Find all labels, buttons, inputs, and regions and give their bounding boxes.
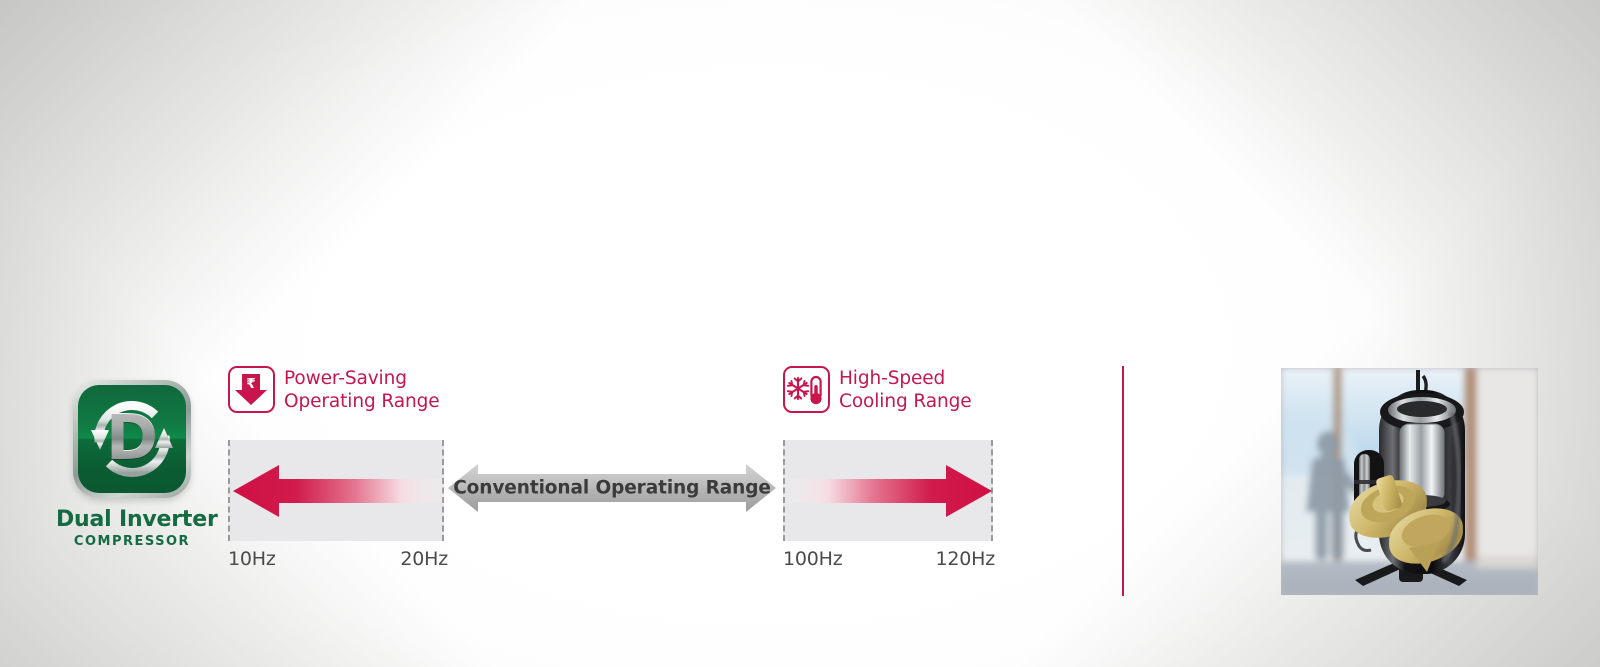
badge-title: Dual Inverter — [56, 508, 208, 532]
tick-20hz: 20Hz — [400, 548, 448, 570]
dual-inverter-badge: D Dual Inverter COMPRESSOR — [56, 380, 208, 549]
high-speed-cooling-label: High-Speed Cooling Range — [839, 366, 972, 414]
badge-subtitle: COMPRESSOR — [56, 534, 208, 549]
dual-inverter-compressor-photo — [1281, 368, 1538, 595]
power-saving-label: Power-Saving Operating Range — [284, 366, 440, 414]
tick-120hz: 120Hz — [935, 548, 995, 570]
high-speed-cooling-label-line1: High-Speed — [839, 367, 972, 390]
power-saving-header: ₹ Power-Saving Operating Range — [228, 366, 444, 422]
tick-100hz: 100Hz — [783, 548, 843, 570]
snowflake-thermometer-icon — [783, 366, 830, 413]
rupee-down-arrow-icon: ₹ — [228, 366, 275, 413]
left-arrow-icon — [233, 464, 443, 518]
svg-text:₹: ₹ — [246, 376, 255, 392]
high-speed-cooling-range-block: High-Speed Cooling Range — [783, 366, 993, 422]
vertical-divider — [1122, 366, 1124, 596]
high-speed-cooling-header: High-Speed Cooling Range — [783, 366, 993, 422]
high-speed-cooling-band — [783, 440, 993, 541]
power-saving-band — [228, 440, 444, 541]
power-saving-label-line2: Operating Range — [284, 390, 440, 413]
power-saving-ticks: 10Hz 20Hz — [228, 548, 448, 570]
power-saving-range-block: ₹ Power-Saving Operating Range — [228, 366, 444, 422]
conventional-operating-range: Conventional Operating Range — [448, 458, 776, 518]
tick-10hz: 10Hz — [228, 548, 276, 570]
dual-inverter-compressor-logo: D — [73, 380, 191, 498]
right-arrow-icon — [788, 464, 992, 518]
badge-letter: D — [78, 406, 186, 469]
conventional-range-label: Conventional Operating Range — [448, 478, 776, 499]
infographic-canvas: D Dual Inverter COMPRESSOR ₹ Power-Savin… — [0, 0, 1600, 667]
high-speed-cooling-ticks: 100Hz 120Hz — [783, 548, 995, 570]
power-saving-label-line1: Power-Saving — [284, 367, 440, 390]
high-speed-cooling-label-line2: Cooling Range — [839, 390, 972, 413]
